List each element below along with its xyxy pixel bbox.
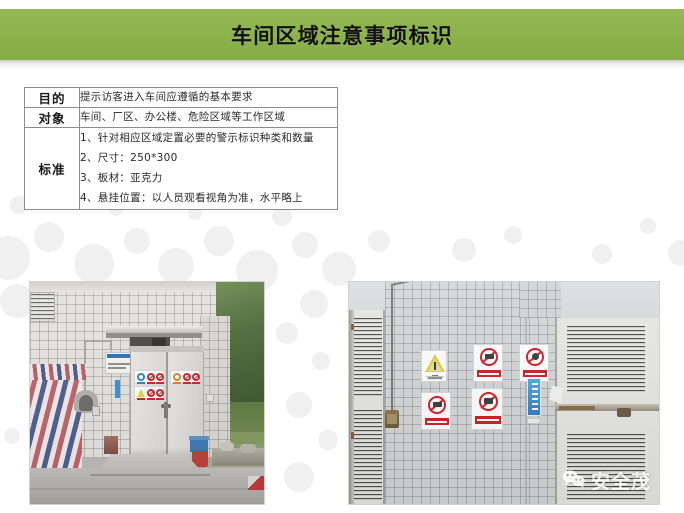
workshop-entrance-photo	[29, 281, 265, 505]
title-bar-shadow	[0, 60, 684, 69]
spec-table: 目的 提示访客进入车间应遵循的基本要求 对象 车间、厂区、办公楼、危险区域等工作…	[24, 87, 338, 210]
table-row: 对象 车间、厂区、办公楼、危险区域等工作区域	[25, 108, 338, 128]
watermark: 安全茂	[562, 467, 651, 494]
spec-value-purpose: 提示访客进入车间应遵循的基本要求	[80, 88, 338, 108]
spec-label-purpose: 目的	[25, 88, 80, 108]
watermark-text: 安全茂	[591, 467, 651, 494]
slide-page: 车间区域注意事项标识 目的 提示访客进入车间应遵循的基本要求 对象 车间、厂区、…	[0, 0, 684, 513]
page-title: 车间区域注意事项标识	[0, 9, 684, 60]
wechat-icon	[562, 469, 586, 493]
spec-value-standard: 1、针对相应区域定置必要的警示标识种类和数量 2、尺寸：250*300 3、板材…	[80, 128, 338, 210]
tiled-wall-signs-photo: 安全茂	[348, 281, 660, 505]
table-row: 目的 提示访客进入车间应遵循的基本要求	[25, 88, 338, 108]
table-row: 标准 1、针对相应区域定置必要的警示标识种类和数量 2、尺寸：250*300 3…	[25, 128, 338, 210]
standard-line-3: 3、板材：亚克力	[80, 168, 337, 188]
spec-label-standard: 标准	[25, 128, 80, 210]
standard-line-2: 2、尺寸：250*300	[80, 148, 337, 168]
spec-label-object: 对象	[25, 108, 80, 128]
standard-line-4: 4、悬挂位置：以人员观看视角为准，水平略上	[80, 189, 337, 209]
standard-line-1: 1、针对相应区域定置必要的警示标识种类和数量	[80, 128, 337, 148]
spec-value-object: 车间、厂区、办公楼、危险区域等工作区域	[80, 108, 338, 128]
